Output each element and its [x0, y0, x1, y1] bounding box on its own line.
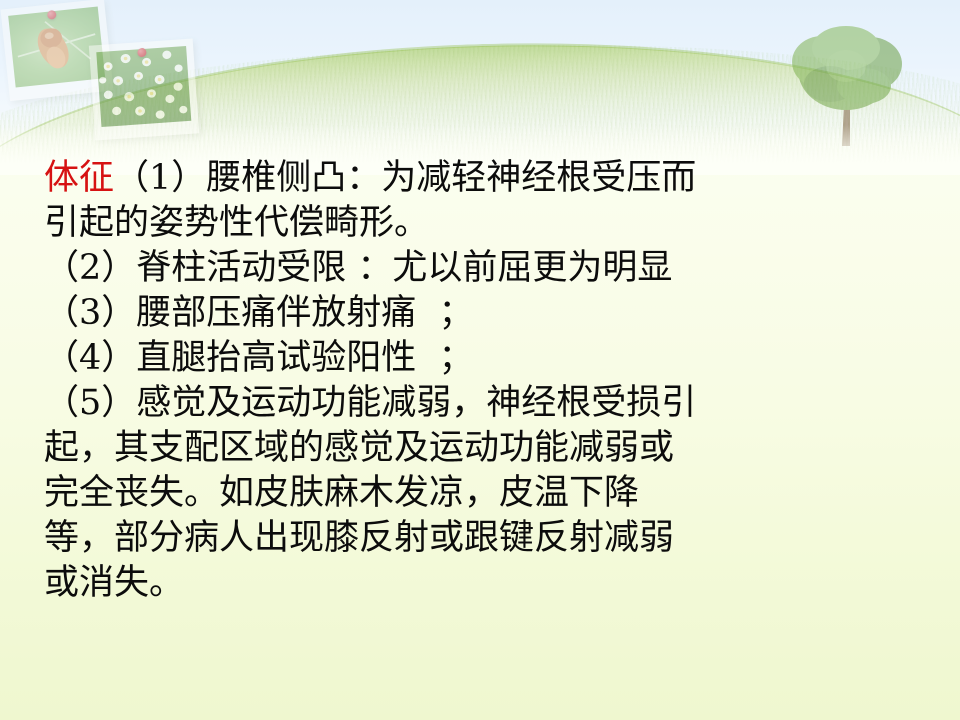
heading-label: 体征 — [44, 158, 114, 198]
body-text: （1）腰椎侧凸：为减轻神经根受压而引起的姿势性代偿畸形。 （2）脊柱活动受限 ：… — [44, 158, 696, 603]
daisy-photo-image — [96, 46, 191, 127]
slide-canvas: 体征（1）腰椎侧凸：为减轻神经根受压而引起的姿势性代偿畸形。 （2）脊柱活动受限… — [0, 0, 960, 720]
slide-paragraph: 体征（1）腰椎侧凸：为减轻神经根受压而引起的姿势性代偿畸形。 （2）脊柱活动受限… — [44, 156, 704, 606]
header-decoration-band — [0, 0, 960, 175]
slide-body: 体征（1）腰椎侧凸：为减轻神经根受压而引起的姿势性代偿畸形。 （2）脊柱活动受限… — [44, 156, 704, 606]
